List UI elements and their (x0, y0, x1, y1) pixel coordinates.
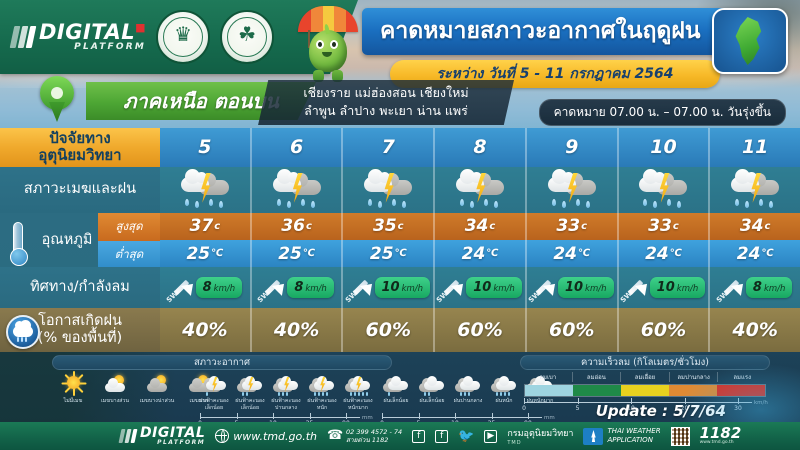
date-value: 5 (198, 136, 211, 158)
seal-royal-icon: ♛ (156, 10, 210, 64)
temp-min-cell-3: 24℃ (435, 240, 527, 267)
row-label-line1: ปัจจัยทาง (38, 130, 121, 148)
wind-speed-value: 8 (203, 280, 212, 295)
rain-cell-1: 40% (252, 308, 344, 352)
date-value: 11 (742, 136, 768, 158)
youtube-icon[interactable]: ▶ (484, 430, 497, 443)
legend-sky-label-2: เมฆบางน่าส่วน (136, 398, 178, 405)
wind-scale-tick-1: 5 (576, 405, 580, 412)
province-line-1: เชียงราย แม่ฮ่องสอน เชียงใหม่ (266, 84, 506, 102)
thunderstorm-rain-icon (271, 172, 323, 208)
qr-code-icon (671, 427, 690, 446)
footer-phone[interactable]: 02 399 4572 - 74 สายด่วน 1182 (327, 428, 402, 444)
legend-storm-label-0: ฝนฟ้าคะนอง เล็กน้อย (196, 398, 232, 411)
wind-speed-chip: 10km/h (466, 277, 522, 298)
legend-wind-label-0: ลมเบา (524, 372, 573, 382)
thunderstorm-rain-icon (546, 172, 598, 208)
legend-rain-item-3: ฝนหนัก (486, 372, 522, 405)
legend-rain-label-3: ฝนหนัก (486, 398, 522, 405)
date-cell-2: 7 (343, 128, 435, 167)
legend-storm-label-1: ฝนฟ้าคะนอง เล็กน้อย (232, 398, 268, 411)
row-label-sky: สภาวะเมฆและฝน (0, 167, 160, 213)
wind-speed-value: 8 (753, 280, 762, 295)
table-row-temp-max: อุณหภูมิ สูงสุด ต่ำสุด 37c36c35c34c33c33… (0, 213, 800, 240)
storm-scale-unit: mm (362, 415, 373, 421)
phone-number: 02 399 4572 - 74 (346, 428, 402, 436)
legend-storm-items: ฝนฟ้าคะนอง เล็กน้อยฝนฟ้าคะนอง เล็กน้อยฝน… (196, 372, 376, 411)
brand-sub: PLATFORM (39, 43, 146, 52)
wind-unit: km/h (214, 284, 235, 294)
legend-sky-label-0: ไม่มีเมฆ (52, 398, 94, 405)
footer-bar: DIGITAL PLATFORM www.tmd.go.th 02 399 45… (0, 422, 800, 450)
table-row-sky: สภาวะเมฆและฝน (0, 167, 800, 213)
temp-max-cell-6: 34c (710, 213, 800, 240)
wind-dir-label: SW (165, 290, 180, 305)
date-value: 8 (473, 136, 486, 158)
rain-chance-value: 40% (182, 319, 227, 341)
date-cell-3: 8 (435, 128, 527, 167)
temp-max-cell-2: 35c (343, 213, 435, 240)
dept-text: กรมอุตุนิยมวิทยา (507, 429, 573, 439)
thunderstorm-rain-icon (362, 172, 414, 208)
logo-bars-icon (10, 26, 37, 48)
rain-cell-4: 60% (527, 308, 619, 352)
legend-bar: สภาวะอากาศ ความเร็วลม (กิโลเมตร/ชั่วโมง)… (0, 352, 800, 422)
legend-sky-item-2: เมฆบางน่าส่วน (136, 372, 178, 405)
rain-cloud-badge-icon (6, 315, 40, 349)
wind-dir-label: SW (435, 290, 450, 305)
water-decor (670, 360, 800, 422)
wind-speed-value: 10 (565, 280, 583, 295)
legend-wind-label-1: ลมอ่อน (573, 372, 622, 382)
legend-rain-label-2: ฝนปานกลาง (450, 398, 486, 405)
weather-mascot-umbrella-icon (295, 6, 361, 86)
wind-speed-chip: 10km/h (558, 277, 614, 298)
date-cell-6: 11 (710, 128, 800, 167)
globe-icon (215, 429, 229, 443)
rain-cell-6: 40% (710, 308, 800, 352)
location-pin-icon (40, 76, 74, 122)
temp-max-tag: สูงสุด (98, 213, 160, 241)
brand-bar: DIGITAL■ PLATFORM ♛ ☘ (0, 0, 330, 74)
date-cell-5: 10 (619, 128, 711, 167)
wind-speed-value: 10 (473, 280, 491, 295)
forecast-table: ปัจจัยทาง อุตุนิยมวิทยา 567891011 สภาวะเ… (0, 128, 800, 352)
temp-min-cell-5: 24℃ (619, 240, 711, 267)
date-value: 7 (382, 136, 395, 158)
temp-max-cell-3: 34c (435, 213, 527, 240)
date-value: 9 (565, 136, 578, 158)
row-label-wind: ทิศทาง/กำลังลม (0, 267, 160, 308)
facebook-icon-2[interactable]: f (435, 430, 448, 443)
wind-direction-arrow-icon: SW (530, 274, 556, 300)
wind-speed-chip: 8km/h (196, 277, 243, 298)
wind-dir-label: SW (619, 290, 634, 305)
wind-unit: km/h (402, 284, 423, 294)
temp-max-cell-0: 37c (160, 213, 252, 240)
wind-direction-arrow-icon: SW (347, 274, 373, 300)
wind-cell-6: SW8km/h (710, 267, 800, 308)
rain-chance-value: 40% (732, 319, 777, 341)
thunderstorm-rain-icon (729, 172, 781, 208)
app-name-1: THAI WEATHER (607, 427, 660, 435)
brand-name: DIGITAL (39, 20, 135, 44)
wind-direction-arrow-icon: SW (438, 274, 464, 300)
thunderstorm-rain-icon (179, 172, 231, 208)
date-cell-1: 6 (252, 128, 344, 167)
seal-tmd-icon: ☘ (220, 10, 274, 64)
legend-rain-item-1: ฝนเล็กน้อย (414, 372, 450, 405)
wind-scale-tick-0: 0 (522, 405, 526, 412)
wind-speed-value: 8 (294, 280, 303, 295)
table-row-temp-min: 25℃25℃25℃24℃24℃24℃24℃ (0, 240, 800, 267)
wind-dir-label: SW (715, 290, 730, 305)
footer-website[interactable]: www.tmd.go.th (215, 429, 317, 443)
wind-speed-chip: 8km/h (287, 277, 334, 298)
department-name: กรมอุตุนิยมวิทยา TMD (507, 426, 573, 446)
wind-dir-label: SW (344, 290, 359, 305)
rain-label-line1: โอกาสเกิดฝน (38, 313, 122, 330)
sky-cell-3 (435, 167, 527, 213)
temp-min-cell-1: 25℃ (252, 240, 344, 267)
thunderstorm-rain-icon (637, 172, 689, 208)
wind-direction-arrow-icon: SW (718, 274, 744, 300)
rain-cell-0: 40% (160, 308, 252, 352)
legend-wind-swatch-1 (573, 385, 621, 396)
digital-platform-logo: DIGITAL■ PLATFORM (12, 22, 146, 52)
legend-weather-title: สภาวะอากาศ (52, 355, 392, 370)
sky-cell-6 (710, 167, 800, 213)
temp-max-cell-1: 36c (252, 213, 344, 240)
wind-dir-label: SW (527, 290, 542, 305)
rain-scale-unit: mm (544, 415, 555, 421)
row-label-meteorological-factor: ปัจจัยทาง อุตุนิยมวิทยา (0, 128, 160, 167)
legend-storm-item-3: ฝนฟ้าคะนอง หนัก (304, 372, 340, 411)
wind-unit: km/h (677, 284, 698, 294)
wind-cell-3: SW10km/h (435, 267, 527, 308)
date-cell-4: 9 (527, 128, 619, 167)
date-value: 10 (650, 136, 676, 158)
temp-min-cell-4: 24℃ (527, 240, 619, 267)
sky-cell-0 (160, 167, 252, 213)
legend-storm-label-2: ฝนฟ้าคะนอง ปานกลาง (268, 398, 304, 411)
app-icon (583, 428, 603, 445)
rain-cell-3: 60% (435, 308, 527, 352)
legend-sky-label-1: เมฆบางส่วน (94, 398, 136, 405)
row-label-temperature: อุณหภูมิ สูงสุด ต่ำสุด (0, 213, 160, 240)
date-value: 6 (290, 136, 303, 158)
legend-rain-label-1: ฝนเล็กน้อย (414, 398, 450, 405)
temp-max-cell-4: 33c (527, 213, 619, 240)
table-row-dates: ปัจจัยทาง อุตุนิยมวิทยา 567891011 (0, 128, 800, 167)
app-name-2: APPLICATION (607, 436, 652, 444)
sky-cell-1 (252, 167, 344, 213)
thai-weather-app[interactable]: THAI WEATHER APPLICATION (583, 427, 660, 445)
legend-storm-item-0: ฝนฟ้าคะนอง เล็กน้อย (196, 372, 232, 411)
legend-wind-swatch-0 (525, 385, 573, 396)
temp-min-cell-6: 24℃ (710, 240, 800, 267)
sky-cell-4 (527, 167, 619, 213)
twitter-icon[interactable]: 🐦 (458, 429, 474, 444)
rain-label-line2: (% ของพื้นที่) (38, 330, 122, 347)
sky-cell-5 (619, 167, 711, 213)
wind-speed-value: 10 (382, 280, 400, 295)
row-label-rain-chance: โอกาสเกิดฝน (% ของพื้นที่) (0, 308, 160, 352)
row-label-line2: อุตุนิยมวิทยา (38, 147, 121, 165)
wind-unit: km/h (764, 284, 785, 294)
footer-logo-bars-icon (119, 429, 138, 443)
wind-speed-chip: 8km/h (746, 277, 793, 298)
wind-dir-label: SW (256, 290, 271, 305)
wind-unit: km/h (585, 284, 606, 294)
temp-min-cell-2: 25℃ (343, 240, 435, 267)
date-cell-0: 5 (160, 128, 252, 167)
wind-speed-chip: 10km/h (650, 277, 706, 298)
wind-unit: km/h (493, 284, 514, 294)
wind-cell-4: SW10km/h (527, 267, 619, 308)
page-title: คาดหมายสภาวะอากาศในฤดูฝน (362, 8, 766, 55)
wind-direction-arrow-icon: SW (622, 274, 648, 300)
rain-chance-value: 60% (549, 319, 594, 341)
wind-cell-2: SW10km/h (343, 267, 435, 308)
legend-storm-item-1: ฝนฟ้าคะนอง เล็กน้อย (232, 372, 268, 411)
dept-sub: TMD (507, 440, 573, 446)
wind-cell-1: SW8km/h (252, 267, 344, 308)
legend-rain-item-0: ฝนเล็กน้อย (378, 372, 414, 405)
legend-storm-label-4: ฝนฟ้าคะนอง หนักมาก (340, 398, 376, 411)
website-url: www.tmd.go.th (233, 430, 317, 443)
legend-rain-item-2: ฝนปานกลาง (450, 372, 486, 405)
legend-sky-items: ไม่มีเมฆเมฆบางส่วนเมฆบางน่าส่วนเมฆมาก (52, 372, 220, 405)
rain-chance-value: 40% (274, 319, 319, 341)
forecast-window-label: คาดหมาย 07.00 น. – 07.00 น. วันรุ่งขึ้น (539, 99, 786, 126)
wind-unit: km/h (305, 284, 326, 294)
wind-direction-arrow-icon: SW (259, 274, 285, 300)
thailand-map-icon (712, 8, 788, 74)
phone-hotline: สายด่วน 1182 (346, 436, 388, 444)
table-row-wind: ทิศทาง/กำลังลม SW8km/hSW8km/hSW10km/hSW1… (0, 267, 800, 308)
row-label-temp-min-spacer (0, 240, 160, 267)
wind-speed-chip: 10km/h (375, 277, 431, 298)
footer-logo: DIGITAL PLATFORM (120, 426, 205, 446)
title-block: คาดหมายสภาวะอากาศในฤดูฝน ระหว่าง วันที่ … (362, 8, 766, 88)
phone-icon (327, 429, 342, 444)
legend-wind-label-2: ลมเอื่อย (621, 372, 670, 382)
facebook-icon[interactable]: f (412, 430, 425, 443)
rain-cell-5: 60% (619, 308, 711, 352)
legend-rain-label-0: ฝนเล็กน้อย (378, 398, 414, 405)
temp-min-cell-0: 25℃ (160, 240, 252, 267)
temp-max-cell-5: 33c (619, 213, 711, 240)
wind-cell-5: SW10km/h (619, 267, 711, 308)
province-line-2: ลำพูน ลำปาง พะเยา น่าน แพร่ (266, 102, 506, 120)
rain-chance-value: 60% (457, 319, 502, 341)
legend-storm-item-2: ฝนฟ้าคะนอง ปานกลาง (268, 372, 304, 411)
legend-storm-label-3: ฝนฟ้าคะนอง หนัก (304, 398, 340, 411)
wind-cell-0: SW8km/h (160, 267, 252, 308)
thunderstorm-rain-icon (454, 172, 506, 208)
table-row-rain-chance: โอกาสเกิดฝน (% ของพื้นที่) 40%40%60%60%6… (0, 308, 800, 352)
hotline-number: 1182 www.tmd.go.th (700, 426, 742, 446)
rain-cell-2: 60% (343, 308, 435, 352)
rain-chance-value: 60% (366, 319, 411, 341)
legend-wind-swatch-2 (621, 385, 669, 396)
rain-chance-value: 60% (641, 319, 686, 341)
legend-sky-item-1: เมฆบางส่วน (94, 372, 136, 405)
province-list: เชียงราย แม่ฮ่องสอน เชียงใหม่ ลำพูน ลำปา… (258, 80, 514, 125)
legend-sky-item-0: ไม่มีเมฆ (52, 372, 94, 405)
wind-speed-value: 10 (657, 280, 675, 295)
wind-direction-arrow-icon: SW (168, 274, 194, 300)
legend-storm-item-4: ฝนฟ้าคะนอง หนักมาก (340, 372, 376, 411)
weather-infographic: DIGITAL■ PLATFORM ♛ ☘ คาดหมายสภาวะอากาศใ… (0, 0, 800, 450)
sky-cell-2 (343, 167, 435, 213)
footer-brand: DIGITAL (140, 426, 205, 440)
